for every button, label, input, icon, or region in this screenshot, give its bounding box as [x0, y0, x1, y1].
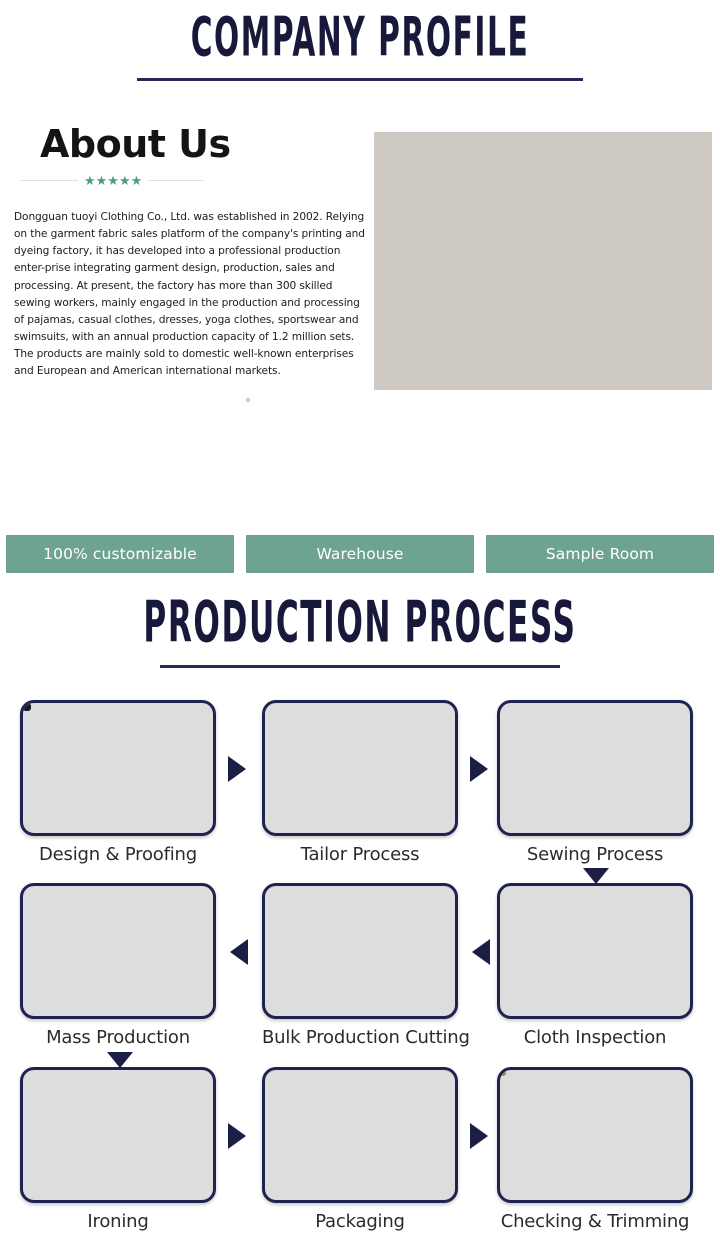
title-underline	[137, 78, 583, 81]
process-step-image	[20, 700, 216, 836]
production-process-title: PRODUCTION PROCESS	[79, 595, 641, 652]
production-process-banner: PRODUCTION PROCESS	[0, 603, 720, 668]
about-text-column: About Us ★★★★★ Dongguan tuoyi Clothing C…	[14, 125, 370, 380]
process-step-label: Packaging	[262, 1211, 458, 1232]
process-step-image	[497, 700, 693, 836]
process-step[interactable]: Design & Proofing	[20, 700, 216, 865]
facility-card[interactable]: 100% customizable	[6, 398, 234, 573]
flow-arrow-right-icon	[470, 756, 488, 782]
process-step-label: Mass Production	[20, 1027, 216, 1048]
flow-arrow-left-icon	[472, 939, 490, 965]
facility-card-image	[6, 398, 234, 538]
process-step[interactable]: Checking & Trimming	[497, 1067, 693, 1232]
production-title-underline	[160, 665, 560, 668]
process-step-label: Checking & Trimming	[497, 1211, 693, 1232]
process-step[interactable]: Sewing Process	[497, 700, 693, 865]
process-step-image	[262, 1067, 458, 1203]
flow-arrow-right-icon	[470, 1123, 488, 1149]
process-step[interactable]: Mass Production	[20, 883, 216, 1048]
star-divider: ★★★★★	[14, 174, 370, 187]
process-step-label: Bulk Production Cutting	[262, 1027, 458, 1048]
production-process-grid: Design & Proofing Tailor Process	[0, 700, 720, 1250]
process-step[interactable]: Ironing	[20, 1067, 216, 1232]
process-step-image	[262, 700, 458, 836]
about-us-section: About Us ★★★★★ Dongguan tuoyi Clothing C…	[0, 125, 720, 390]
flow-arrow-down-icon	[107, 1052, 133, 1068]
company-profile-banner: COMPANY PROFILE	[0, 18, 720, 81]
process-step-image	[497, 1067, 693, 1203]
process-step-label: Tailor Process	[262, 844, 458, 865]
facility-card-caption: Sample Room	[486, 535, 714, 573]
facility-card-image	[486, 398, 714, 538]
flow-arrow-right-icon	[228, 1123, 246, 1149]
process-step-label: Design & Proofing	[20, 844, 216, 865]
about-paragraph-1: Dongguan tuoyi Clothing Co., Ltd. was es…	[14, 209, 370, 346]
process-step-image	[262, 883, 458, 1019]
divider-line-right	[148, 180, 203, 181]
facility-card-caption: 100% customizable	[6, 535, 234, 573]
process-step[interactable]: Bulk Production Cutting	[262, 883, 458, 1048]
facility-card-image	[246, 398, 474, 538]
process-step-label: Sewing Process	[497, 844, 693, 865]
process-step[interactable]: Packaging	[262, 1067, 458, 1232]
facility-card[interactable]: Warehouse	[246, 398, 474, 573]
company-profile-page: COMPANY PROFILE About Us ★★★★★ Dongguan …	[0, 0, 720, 1257]
flow-arrow-right-icon	[228, 756, 246, 782]
process-step-label: Ironing	[20, 1211, 216, 1232]
facility-card[interactable]: Sample Room	[486, 398, 714, 573]
page-title: COMPANY PROFILE	[79, 10, 641, 64]
process-step[interactable]: Cloth Inspection	[497, 883, 693, 1048]
about-hero-photo	[374, 132, 712, 390]
process-step[interactable]: Tailor Process	[262, 700, 458, 865]
process-step-label: Cloth Inspection	[497, 1027, 693, 1048]
about-paragraph-2: The products are mainly sold to domestic…	[14, 346, 370, 380]
facility-card-row: 100% customizable Warehouse Sample R	[0, 398, 720, 573]
about-body-text: Dongguan tuoyi Clothing Co., Ltd. was es…	[14, 209, 370, 381]
about-heading: About Us	[14, 125, 370, 165]
process-step-image	[497, 883, 693, 1019]
flow-arrow-left-icon	[230, 939, 248, 965]
divider-line-left	[20, 180, 78, 181]
facility-card-caption: Warehouse	[246, 535, 474, 573]
process-step-image	[20, 883, 216, 1019]
rating-stars: ★★★★★	[84, 174, 142, 187]
process-step-image	[20, 1067, 216, 1203]
flow-arrow-down-icon	[583, 868, 609, 884]
